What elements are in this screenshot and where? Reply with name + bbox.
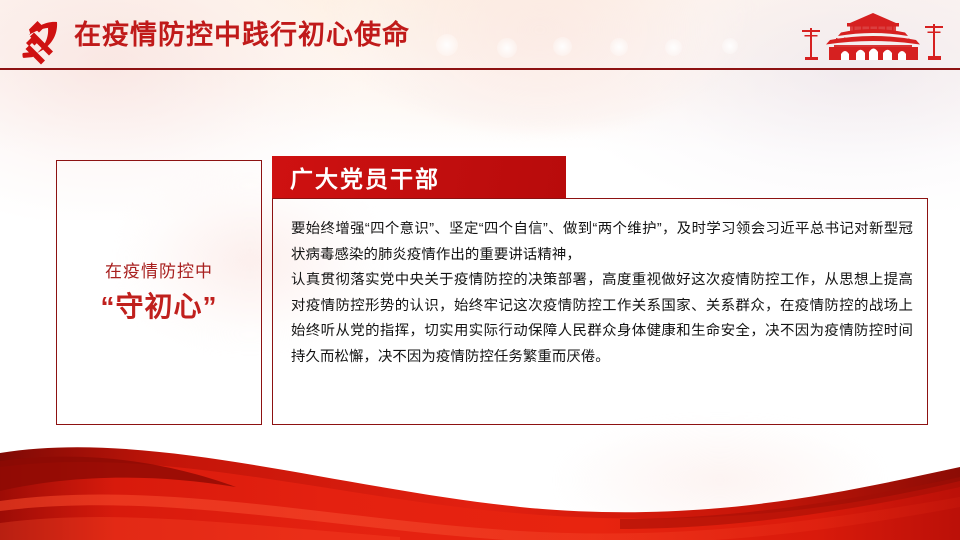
party-emblem-icon bbox=[12, 16, 66, 66]
slide-header: 在疫情防控中践行初心使命 bbox=[0, 0, 960, 70]
header-divider bbox=[0, 68, 960, 70]
content-panel-banner: 广大党员干部 bbox=[272, 156, 566, 198]
content-panel-banner-label: 广大党员干部 bbox=[290, 160, 440, 194]
page-title: 在疫情防控中践行初心使命 bbox=[74, 16, 410, 54]
content-paragraph-1: 要始终增强“四个意识”、坚定“四个自信”、做到“两个维护”，及时学习领会习近平总… bbox=[291, 217, 913, 268]
presentation-slide: 在疫情防控中践行初心使命 bbox=[0, 0, 960, 540]
tiananmen-gate-icon bbox=[798, 10, 948, 68]
content-paragraph-2: 认真贯彻落实党中央关于疫情防控的决策部署，高度重视做好这次疫情防控工作，从思想上… bbox=[291, 268, 913, 370]
highlight-card-line-2: “守初心” bbox=[100, 287, 217, 327]
highlight-card-line-1: 在疫情防控中 bbox=[105, 259, 213, 285]
ribbon-decoration bbox=[0, 415, 960, 540]
highlight-card: 在疫情防控中 “守初心” bbox=[56, 160, 262, 425]
content-panel-body: 要始终增强“四个意识”、坚定“四个自信”、做到“两个维护”，及时学习领会习近平总… bbox=[272, 198, 928, 425]
